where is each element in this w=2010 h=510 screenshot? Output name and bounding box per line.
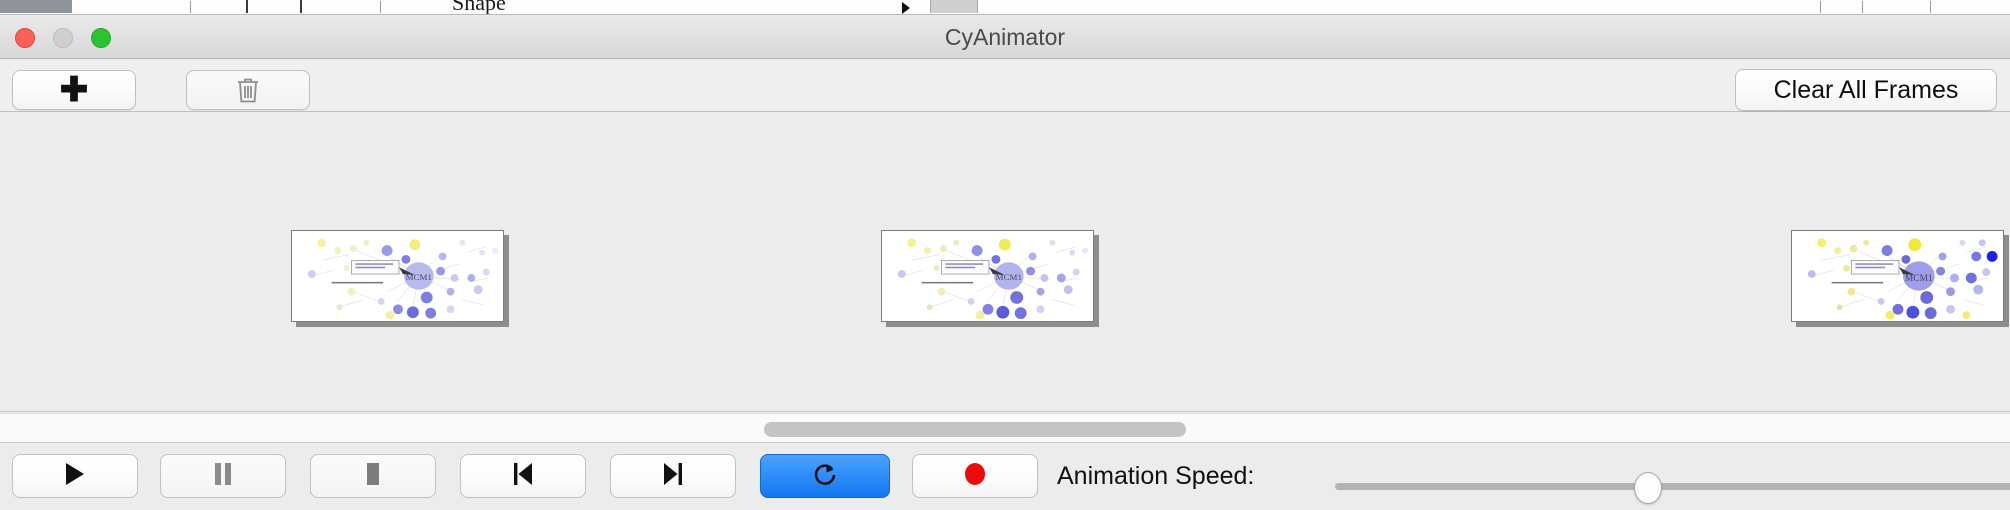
delete-frame-button[interactable]	[186, 70, 310, 110]
play-icon	[63, 461, 87, 492]
thumbnail-image: MCM1	[1791, 230, 2004, 322]
background-window-strip: Shape	[0, 0, 2010, 15]
pause-button[interactable]	[160, 454, 286, 498]
background-divider	[1862, 1, 1863, 13]
pause-icon	[212, 461, 234, 492]
stop-icon	[362, 461, 384, 492]
background-tick	[300, 0, 302, 13]
stop-button[interactable]	[310, 454, 436, 498]
background-divider	[190, 1, 191, 13]
timeline-scrollbar-thumb[interactable]	[764, 422, 1186, 437]
animation-speed-slider[interactable]	[1335, 483, 2010, 490]
network-center-node-label: MCM1	[1905, 274, 1933, 284]
network-center-node-label: MCM1	[996, 272, 1022, 282]
animation-speed-slider-knob[interactable]	[1634, 472, 1662, 504]
network-center-node-label: MCM1	[406, 272, 432, 282]
plus-icon: ✚	[60, 73, 89, 107]
network-graph-preview: MCM1	[1792, 231, 2003, 321]
record-icon	[962, 460, 988, 493]
thumbnail-image: MCM1	[881, 230, 1094, 322]
clear-all-frames-button[interactable]: Clear All Frames	[1735, 69, 1997, 111]
background-divider	[1930, 1, 1931, 13]
timeline-scrollbar[interactable]	[0, 413, 2010, 443]
frame-toolbar: ✚ Clear All Frames	[0, 60, 2010, 112]
background-divider	[1820, 1, 1821, 13]
timeline-frame-thumbnail-1[interactable]: MCM1	[291, 230, 509, 327]
record-button[interactable]	[912, 454, 1038, 498]
title-bar[interactable]: CyAnimator	[0, 15, 2010, 59]
background-divider	[380, 1, 381, 13]
thumbnail-image: MCM1	[291, 230, 504, 322]
background-window-text: Shape	[452, 0, 506, 15]
timeline-frame-thumbnail-2[interactable]: MCM1	[881, 230, 1099, 327]
skip-start-icon	[511, 461, 535, 492]
network-graph-preview: MCM1	[292, 231, 503, 321]
background-dark-tab	[0, 0, 72, 13]
playback-bar: Animation Speed:	[0, 444, 2010, 510]
trash-icon	[235, 76, 261, 104]
play-button[interactable]	[12, 454, 138, 498]
background-gray-tab	[930, 0, 978, 13]
clear-all-frames-label: Clear All Frames	[1774, 76, 1959, 105]
cyanimator-window: Shape CyAnimator ✚ Clea	[0, 0, 2010, 510]
skip-end-button[interactable]	[610, 454, 736, 498]
loop-icon	[812, 460, 838, 493]
window-title: CyAnimator	[0, 15, 2010, 59]
skip-start-button[interactable]	[460, 454, 586, 498]
timeline-panel[interactable]: MCM1	[0, 112, 2010, 412]
timeline-frame-thumbnail-3[interactable]: MCM1	[1791, 230, 2009, 327]
add-frame-button[interactable]: ✚	[12, 70, 136, 110]
skip-end-icon	[661, 461, 685, 492]
background-arrow-icon	[902, 2, 910, 14]
background-tick	[246, 0, 248, 13]
animation-speed-label: Animation Speed:	[1057, 462, 1254, 491]
network-graph-preview: MCM1	[882, 231, 1093, 321]
loop-button[interactable]	[760, 454, 890, 498]
